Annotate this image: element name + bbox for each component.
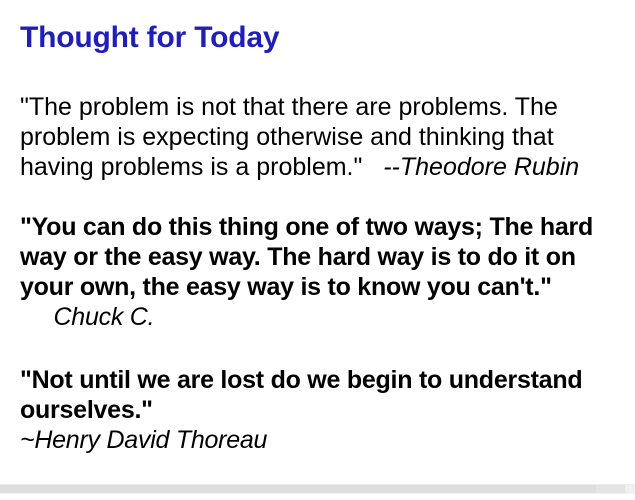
quote-block-3: "Not until we are lost do we begin to un… (20, 365, 632, 455)
quote-block-2: "You can do this thing one of two ways; … (20, 212, 632, 332)
quote-attribution-3: ~Henry David Thoreau (20, 425, 632, 455)
quote-attribution-1: --Theodore Rubin (383, 153, 579, 181)
page-title: Thought for Today (20, 20, 279, 56)
quote-text-3: "Not until we are lost do we begin to un… (20, 366, 582, 424)
scrollbar-corner (625, 485, 635, 493)
scrollbar-thumb[interactable] (0, 485, 596, 493)
quote-block-1: "The problem is not that there are probl… (20, 92, 632, 182)
quote-spacer-1 (362, 153, 383, 181)
quote-text-2: "You can do this thing one of two ways; … (20, 213, 593, 301)
horizontal-scrollbar[interactable] (0, 484, 635, 494)
page-root: Thought for Today "The problem is not th… (0, 0, 635, 500)
quote-attribution-2: Chuck C. (53, 303, 154, 331)
quote-spacer-2 (20, 303, 53, 331)
